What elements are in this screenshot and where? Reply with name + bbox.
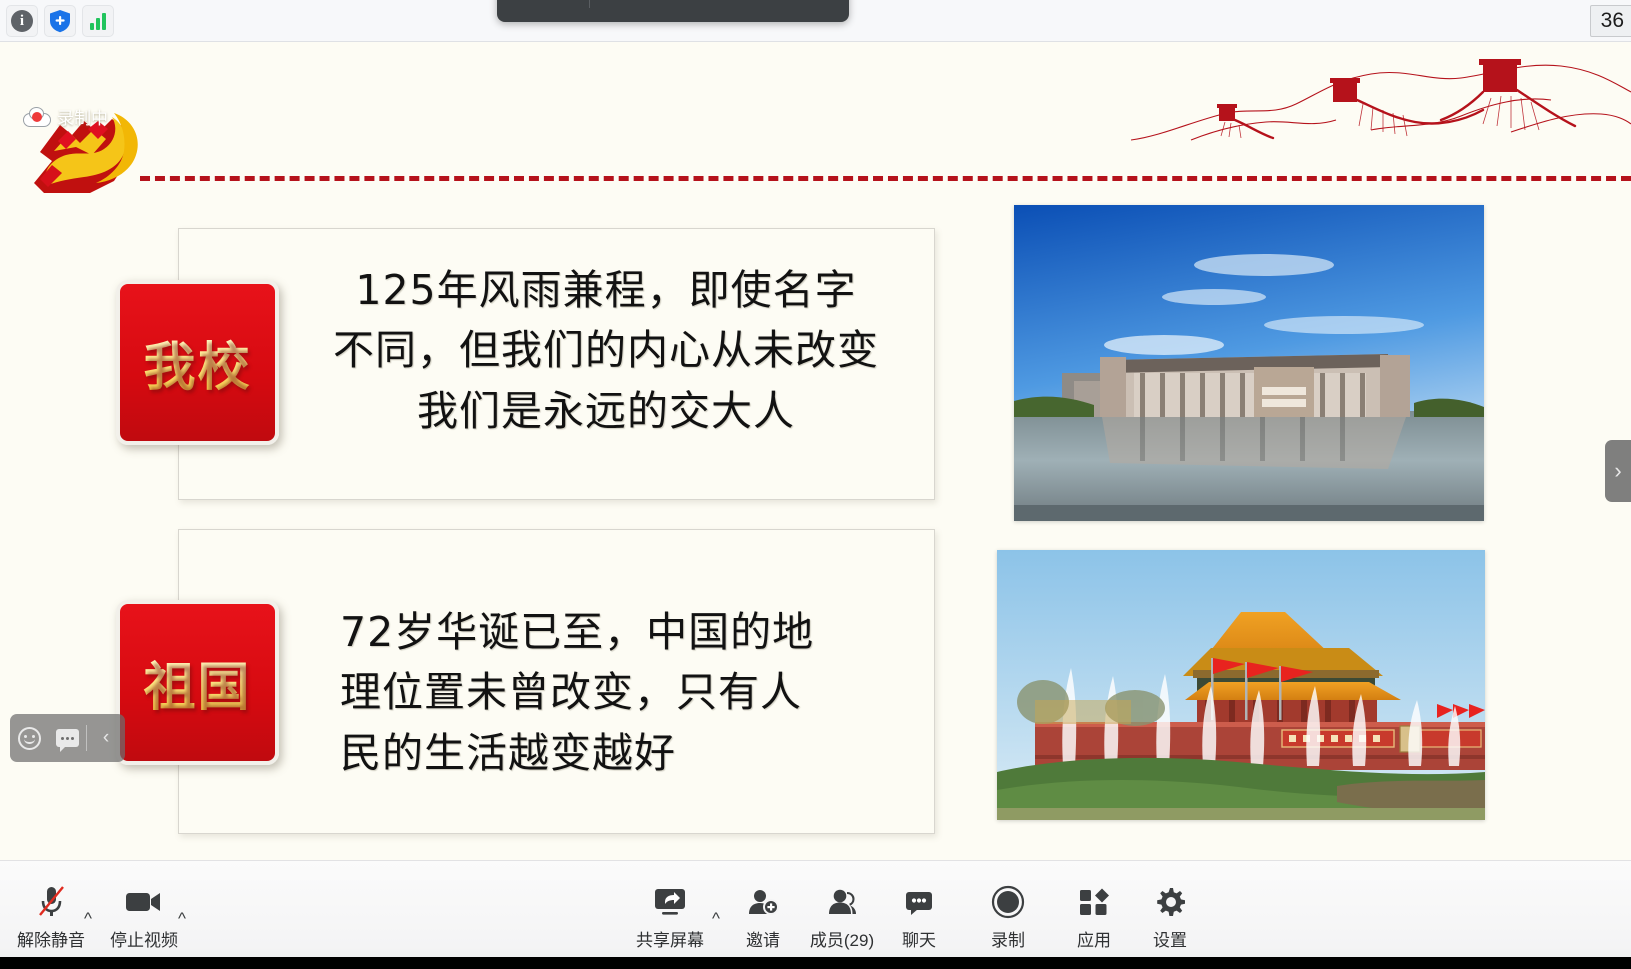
meeting-control-bar: 解除静音 ^ 停止视频 ^ 共享屏幕 ^ [0, 860, 1631, 969]
apps-grid-icon [1078, 882, 1110, 922]
zoom-meeting-window: i 36 ······ [0, 0, 1631, 969]
chat-icon [903, 882, 935, 922]
zoom-level-indicator[interactable]: 36 [1590, 5, 1631, 37]
block-1-text: 125年风雨兼程，即使名字 不同，但我们的内心从未改变 我们是永远的交大人 [296, 260, 916, 441]
red-dashed-divider [140, 176, 1631, 181]
invite-label: 邀请 [746, 926, 780, 951]
share-options-caret[interactable]: ^ [712, 909, 720, 929]
video-label: 停止视频 [110, 926, 178, 951]
shield-plus-icon [49, 9, 71, 33]
settings-gear-icon [1154, 882, 1186, 922]
tiananmen-photo [997, 550, 1485, 820]
chat-label: 聊天 [902, 926, 936, 951]
apps-label: 应用 [1077, 926, 1111, 951]
stop-video-button[interactable]: 停止视频 [104, 882, 184, 951]
signal-bars-icon [90, 13, 106, 30]
floating-meeting-toolbar[interactable]: ······ [497, 0, 849, 22]
bottom-black-strip [0, 957, 1631, 969]
block-2-text: 72岁华诞已至，中国的地 理位置未曾改变，只有人 民的生活越变越好 [340, 602, 900, 783]
record-button[interactable]: 录制 [975, 882, 1041, 951]
microphone-muted-icon [36, 882, 66, 922]
great-wall-illustration [1131, 52, 1631, 147]
participants-icon [826, 882, 858, 922]
record-label: 录制 [991, 926, 1025, 951]
reactions-floating-widget[interactable]: ‹ [10, 714, 125, 762]
apps-button[interactable]: 应用 [1062, 882, 1126, 951]
invite-button[interactable]: 邀请 [730, 882, 796, 951]
recording-label: 录制中 [57, 104, 108, 129]
video-camera-icon [125, 882, 163, 922]
mute-button[interactable]: 解除静音 [12, 882, 90, 951]
invite-person-icon [747, 882, 779, 922]
security-shield-button[interactable] [44, 5, 76, 37]
badge-wo-xiao: 我校 [116, 280, 279, 445]
participants-button[interactable]: 成员(29) [800, 882, 884, 951]
reactions-button[interactable] [10, 727, 48, 750]
shared-slide-content: 录制中 我校 125年风雨兼程，即使名字 不同，但我们的内心从未改变 我们是永远… [0, 42, 1631, 860]
widget-collapse-button[interactable]: ‹ [87, 727, 125, 749]
settings-label: 设置 [1153, 926, 1187, 951]
info-button[interactable]: i [6, 5, 38, 37]
participants-label: 成员(29) [810, 926, 874, 951]
toolbar-separator [589, 0, 590, 8]
right-panel-toggle[interactable]: › [1605, 440, 1631, 502]
share-screen-icon [652, 882, 688, 922]
network-stats-button[interactable] [82, 5, 114, 37]
recording-indicator: 录制中 [23, 104, 108, 129]
chat-bubble-icon [56, 729, 79, 747]
share-screen-label: 共享屏幕 [636, 926, 704, 951]
share-screen-button[interactable]: 共享屏幕 [630, 882, 710, 951]
top-button-group: i [6, 5, 114, 37]
smiley-icon [18, 727, 41, 750]
info-icon: i [11, 10, 33, 32]
record-icon [991, 882, 1025, 922]
mute-label: 解除静音 [17, 926, 85, 951]
settings-button[interactable]: 设置 [1138, 882, 1202, 951]
cloud-record-icon [23, 107, 51, 127]
audio-options-caret[interactable]: ^ [84, 909, 92, 929]
widget-chat-button[interactable] [48, 729, 86, 747]
badge-zu-guo: 祖国 [116, 600, 279, 765]
video-options-caret[interactable]: ^ [178, 909, 186, 929]
university-building-photo [1014, 205, 1484, 521]
chat-button[interactable]: 聊天 [888, 882, 950, 951]
